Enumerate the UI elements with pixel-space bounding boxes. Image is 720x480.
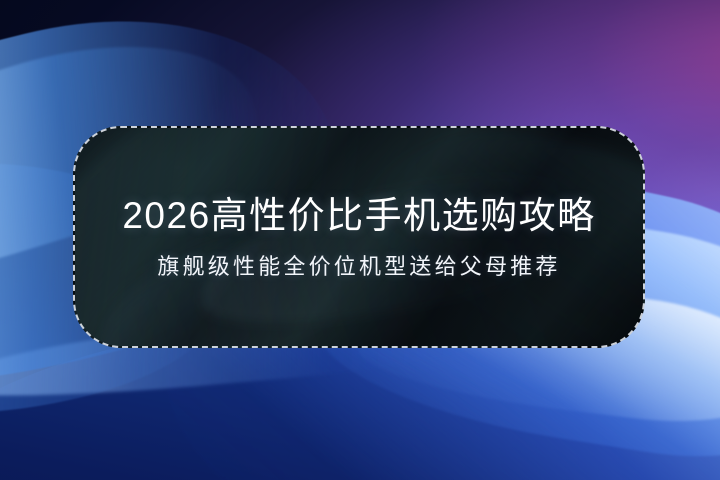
poster-canvas: 2026高性价比手机选购攻略 旗舰级性能全价位机型送给父母推荐 xyxy=(0,0,720,480)
poster-title: 2026高性价比手机选购攻略 xyxy=(75,197,643,234)
dashed-title-card: 2026高性价比手机选购攻略 旗舰级性能全价位机型送给父母推荐 xyxy=(73,126,645,348)
card-text-block: 2026高性价比手机选购攻略 旗舰级性能全价位机型送给父母推荐 xyxy=(75,197,643,278)
poster-subtitle: 旗舰级性能全价位机型送给父母推荐 xyxy=(75,256,643,278)
